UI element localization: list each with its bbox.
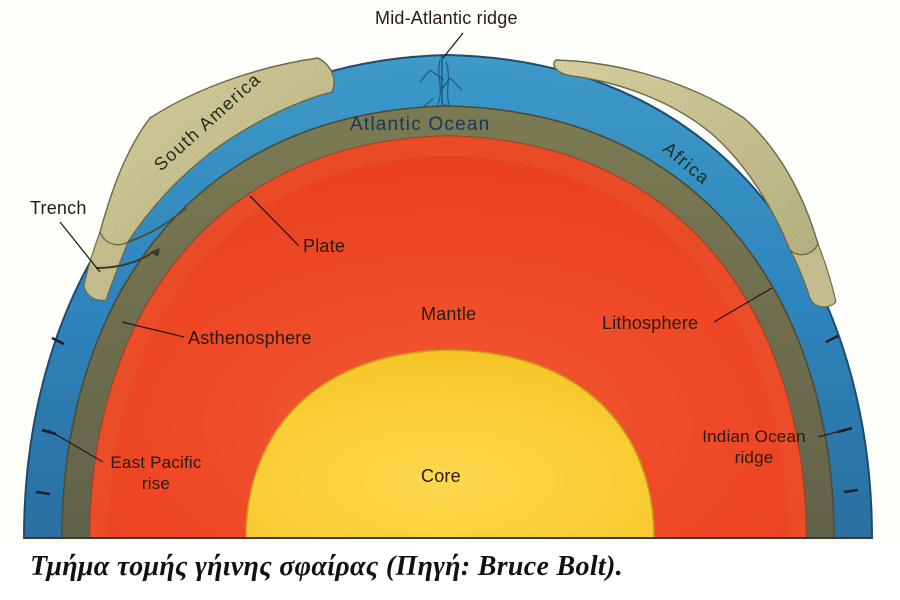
label-plate: Plate	[303, 236, 345, 257]
label-east-pacific-rise-line1: East Pacific	[110, 453, 201, 472]
label-asthenosphere: Asthenosphere	[188, 328, 312, 349]
figure-page: Mid-Atlantic ridge Atlantic Ocean South …	[0, 0, 900, 600]
label-mantle: Mantle	[421, 304, 476, 325]
label-indian-ocean-ridge-line1: Indian Ocean	[702, 427, 806, 446]
label-east-pacific-rise: East Pacific rise	[104, 452, 208, 495]
label-lithosphere: Lithosphere	[602, 313, 698, 334]
label-mid-atlantic-ridge: Mid-Atlantic ridge	[375, 8, 518, 29]
label-atlantic-ocean: Atlantic Ocean	[350, 114, 490, 136]
label-east-pacific-rise-line2: rise	[142, 474, 170, 493]
label-indian-ocean-ridge-line2: ridge	[735, 448, 774, 467]
earth-cross-section-figure: Mid-Atlantic ridge Atlantic Ocean South …	[0, 0, 900, 545]
figure-caption: Τμήμα τομής γήινης σφαίρας (Πηγή: Bruce …	[30, 551, 623, 583]
label-indian-ocean-ridge: Indian Ocean ridge	[692, 426, 816, 469]
label-core: Core	[421, 466, 461, 487]
label-trench: Trench	[30, 198, 87, 219]
leader-trench	[60, 222, 100, 272]
